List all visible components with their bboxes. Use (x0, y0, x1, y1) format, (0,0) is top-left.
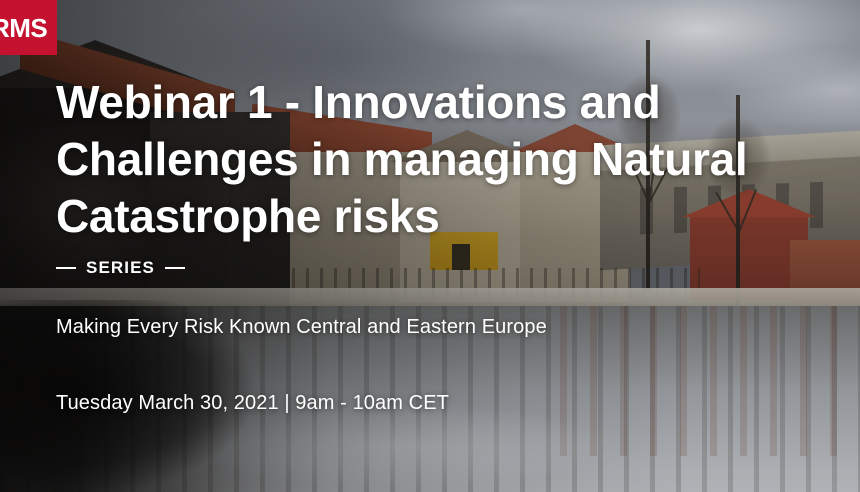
page-title-line-3: Catastrophe risks (56, 188, 747, 245)
rms-logo[interactable]: RMS (0, 0, 57, 55)
hero-datetime: Tuesday March 30, 2021 | 9am - 10am CET (56, 392, 449, 415)
hero-content: Webinar 1 - Innovations and Challenges i… (56, 0, 816, 492)
page-title-line-2: Challenges in managing Natural (56, 131, 747, 188)
hero-subtitle: Making Every Risk Known Central and East… (56, 316, 547, 339)
series-dash-right-icon (165, 267, 185, 269)
series-label: SERIES (86, 258, 155, 278)
page-title-line-1: Webinar 1 - Innovations and (56, 74, 747, 131)
series-badge: SERIES (56, 258, 185, 278)
page-title: Webinar 1 - Innovations and Challenges i… (56, 74, 747, 245)
rms-logo-wordmark: RMS (0, 15, 47, 41)
webinar-hero-banner: RMS Webinar 1 - Innovations and Challeng… (0, 0, 860, 492)
series-dash-left-icon (56, 267, 76, 269)
